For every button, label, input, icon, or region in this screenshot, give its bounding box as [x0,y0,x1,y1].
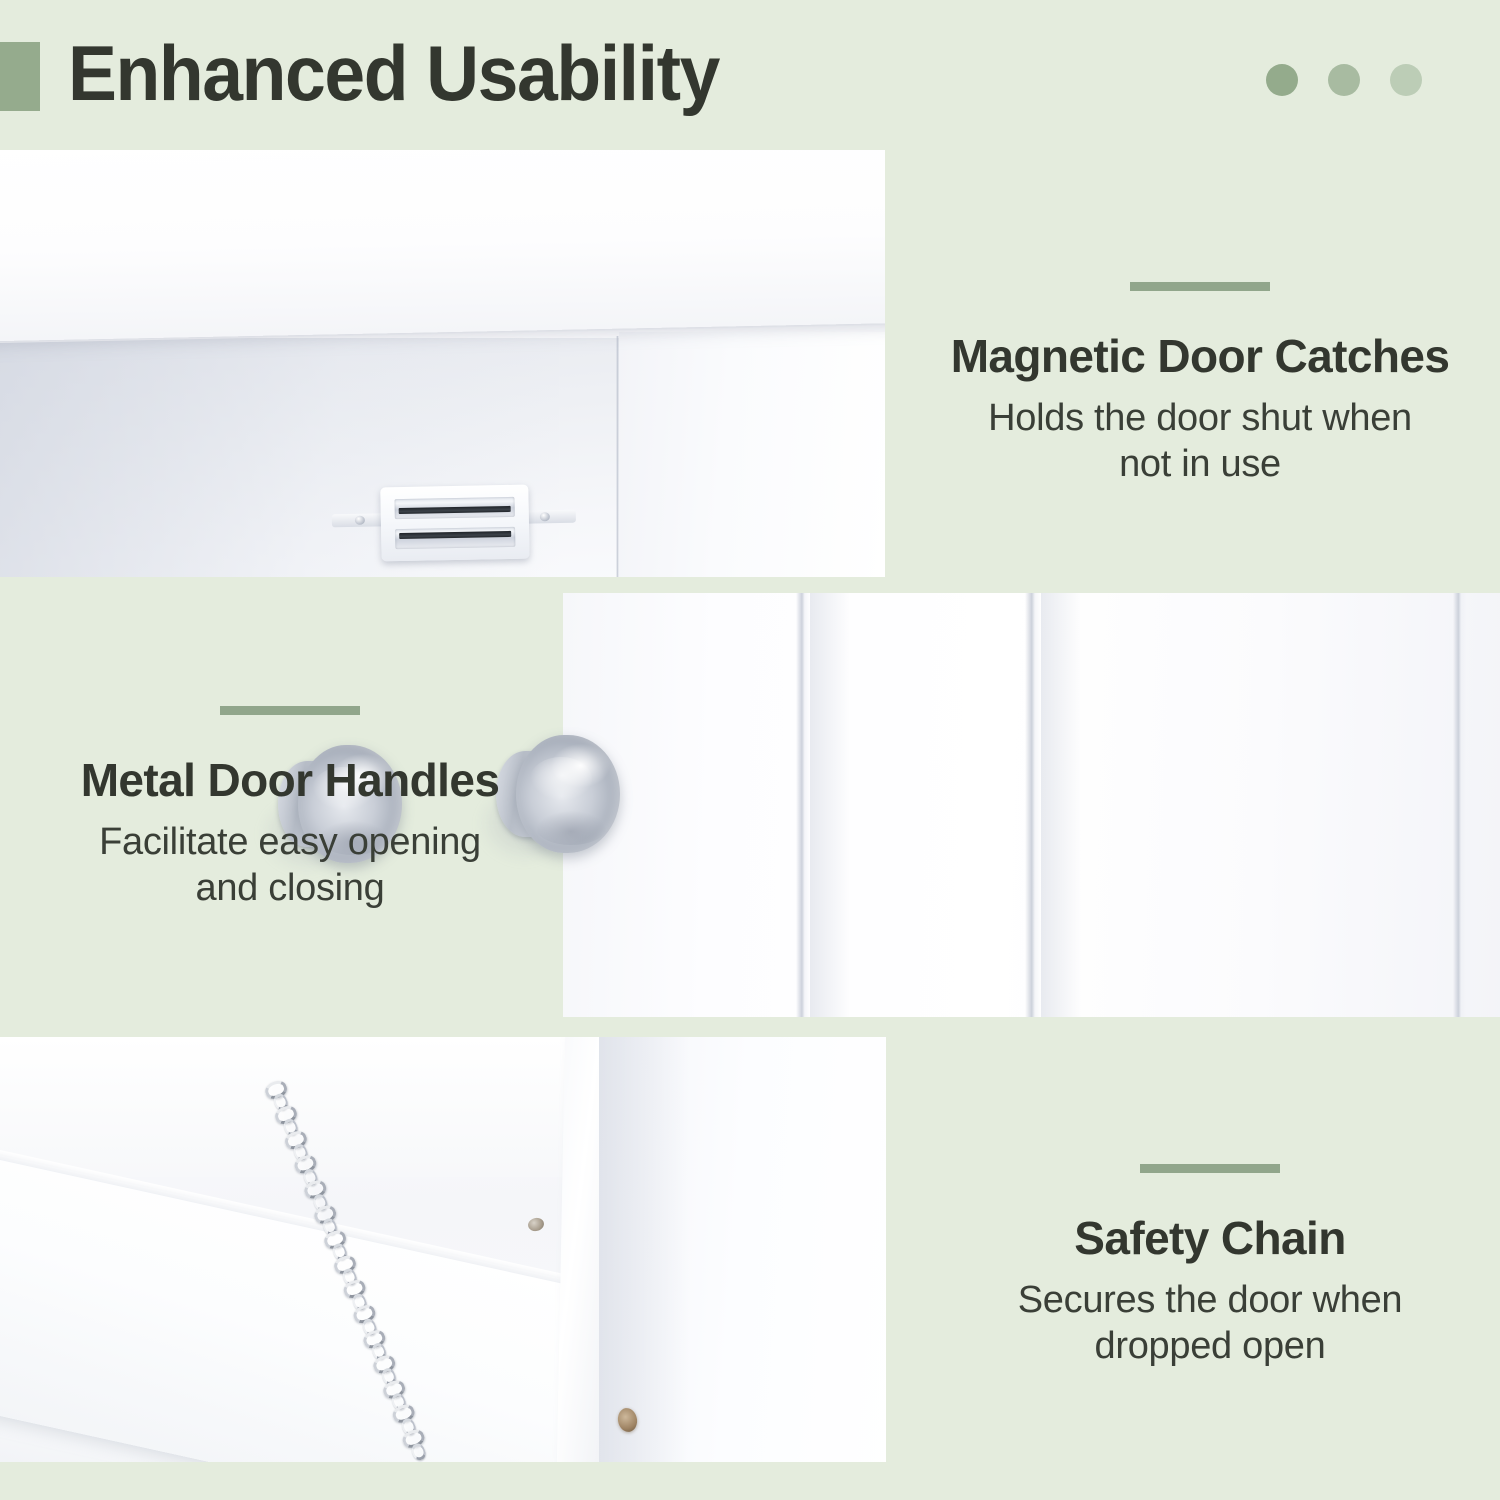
header-dot-3-icon [1390,64,1422,96]
magnetic-strip-upper [394,497,514,519]
feature-description: Secures the door when dropped open [925,1277,1495,1370]
header-dot-1-icon [1266,64,1298,96]
feature-accent-bar [1140,1164,1280,1173]
cabinet-upper-door [0,150,885,342]
feature-magnetic-door-catches: Magnetic Door Catches Holds the door shu… [905,282,1495,488]
feature-description-line-1: Facilitate easy opening [99,821,481,863]
feature-description-line-2: dropped open [1095,1325,1326,1367]
cabinet-side-seam [616,336,619,577]
feature-accent-bar [1130,282,1270,291]
feature-heading: Magnetic Door Catches [905,331,1495,382]
magnetic-strip-core [399,531,511,539]
feature-description: Facilitate easy opening and closing [30,819,550,912]
photo-metal-door-handles [563,593,1500,1017]
feature-description-line-2: not in use [1119,443,1281,485]
cabinet-right-wall [619,332,885,577]
cabinet-right-door-shadow [599,1037,689,1462]
magnetic-strip-core [399,506,511,514]
magnetic-catch-assembly [325,484,582,569]
magnetic-strip-lower [395,527,515,549]
feature-accent-bar [220,706,360,715]
photo-safety-chain [0,1037,886,1462]
feature-safety-chain: Safety Chain Secures the door when dropp… [925,1164,1495,1370]
feature-description-line-1: Secures the door when [1018,1279,1403,1321]
door-seam-shadow [1041,593,1081,1017]
feature-heading: Safety Chain [925,1213,1495,1264]
feature-heading: Metal Door Handles [30,755,550,806]
title-accent-square [0,42,40,111]
feature-metal-door-handles: Metal Door Handles Facilitate easy openi… [30,706,550,912]
door-panel-seam [1453,593,1466,1017]
door-panel-seam [796,593,810,1017]
feature-description: Holds the door shut when not in use [905,395,1495,488]
photo-magnetic-door-catch [0,150,885,577]
feature-description-line-2: and closing [196,867,385,909]
door-seam-shadow [810,593,850,1017]
header-dot-2-icon [1328,64,1360,96]
page-header: Enhanced Usability [0,0,1500,150]
header-dot-group [1266,64,1422,96]
door-panel-seam [1025,593,1041,1017]
feature-description-line-1: Holds the door shut when [988,397,1412,439]
page-title: Enhanced Usability [68,27,719,119]
